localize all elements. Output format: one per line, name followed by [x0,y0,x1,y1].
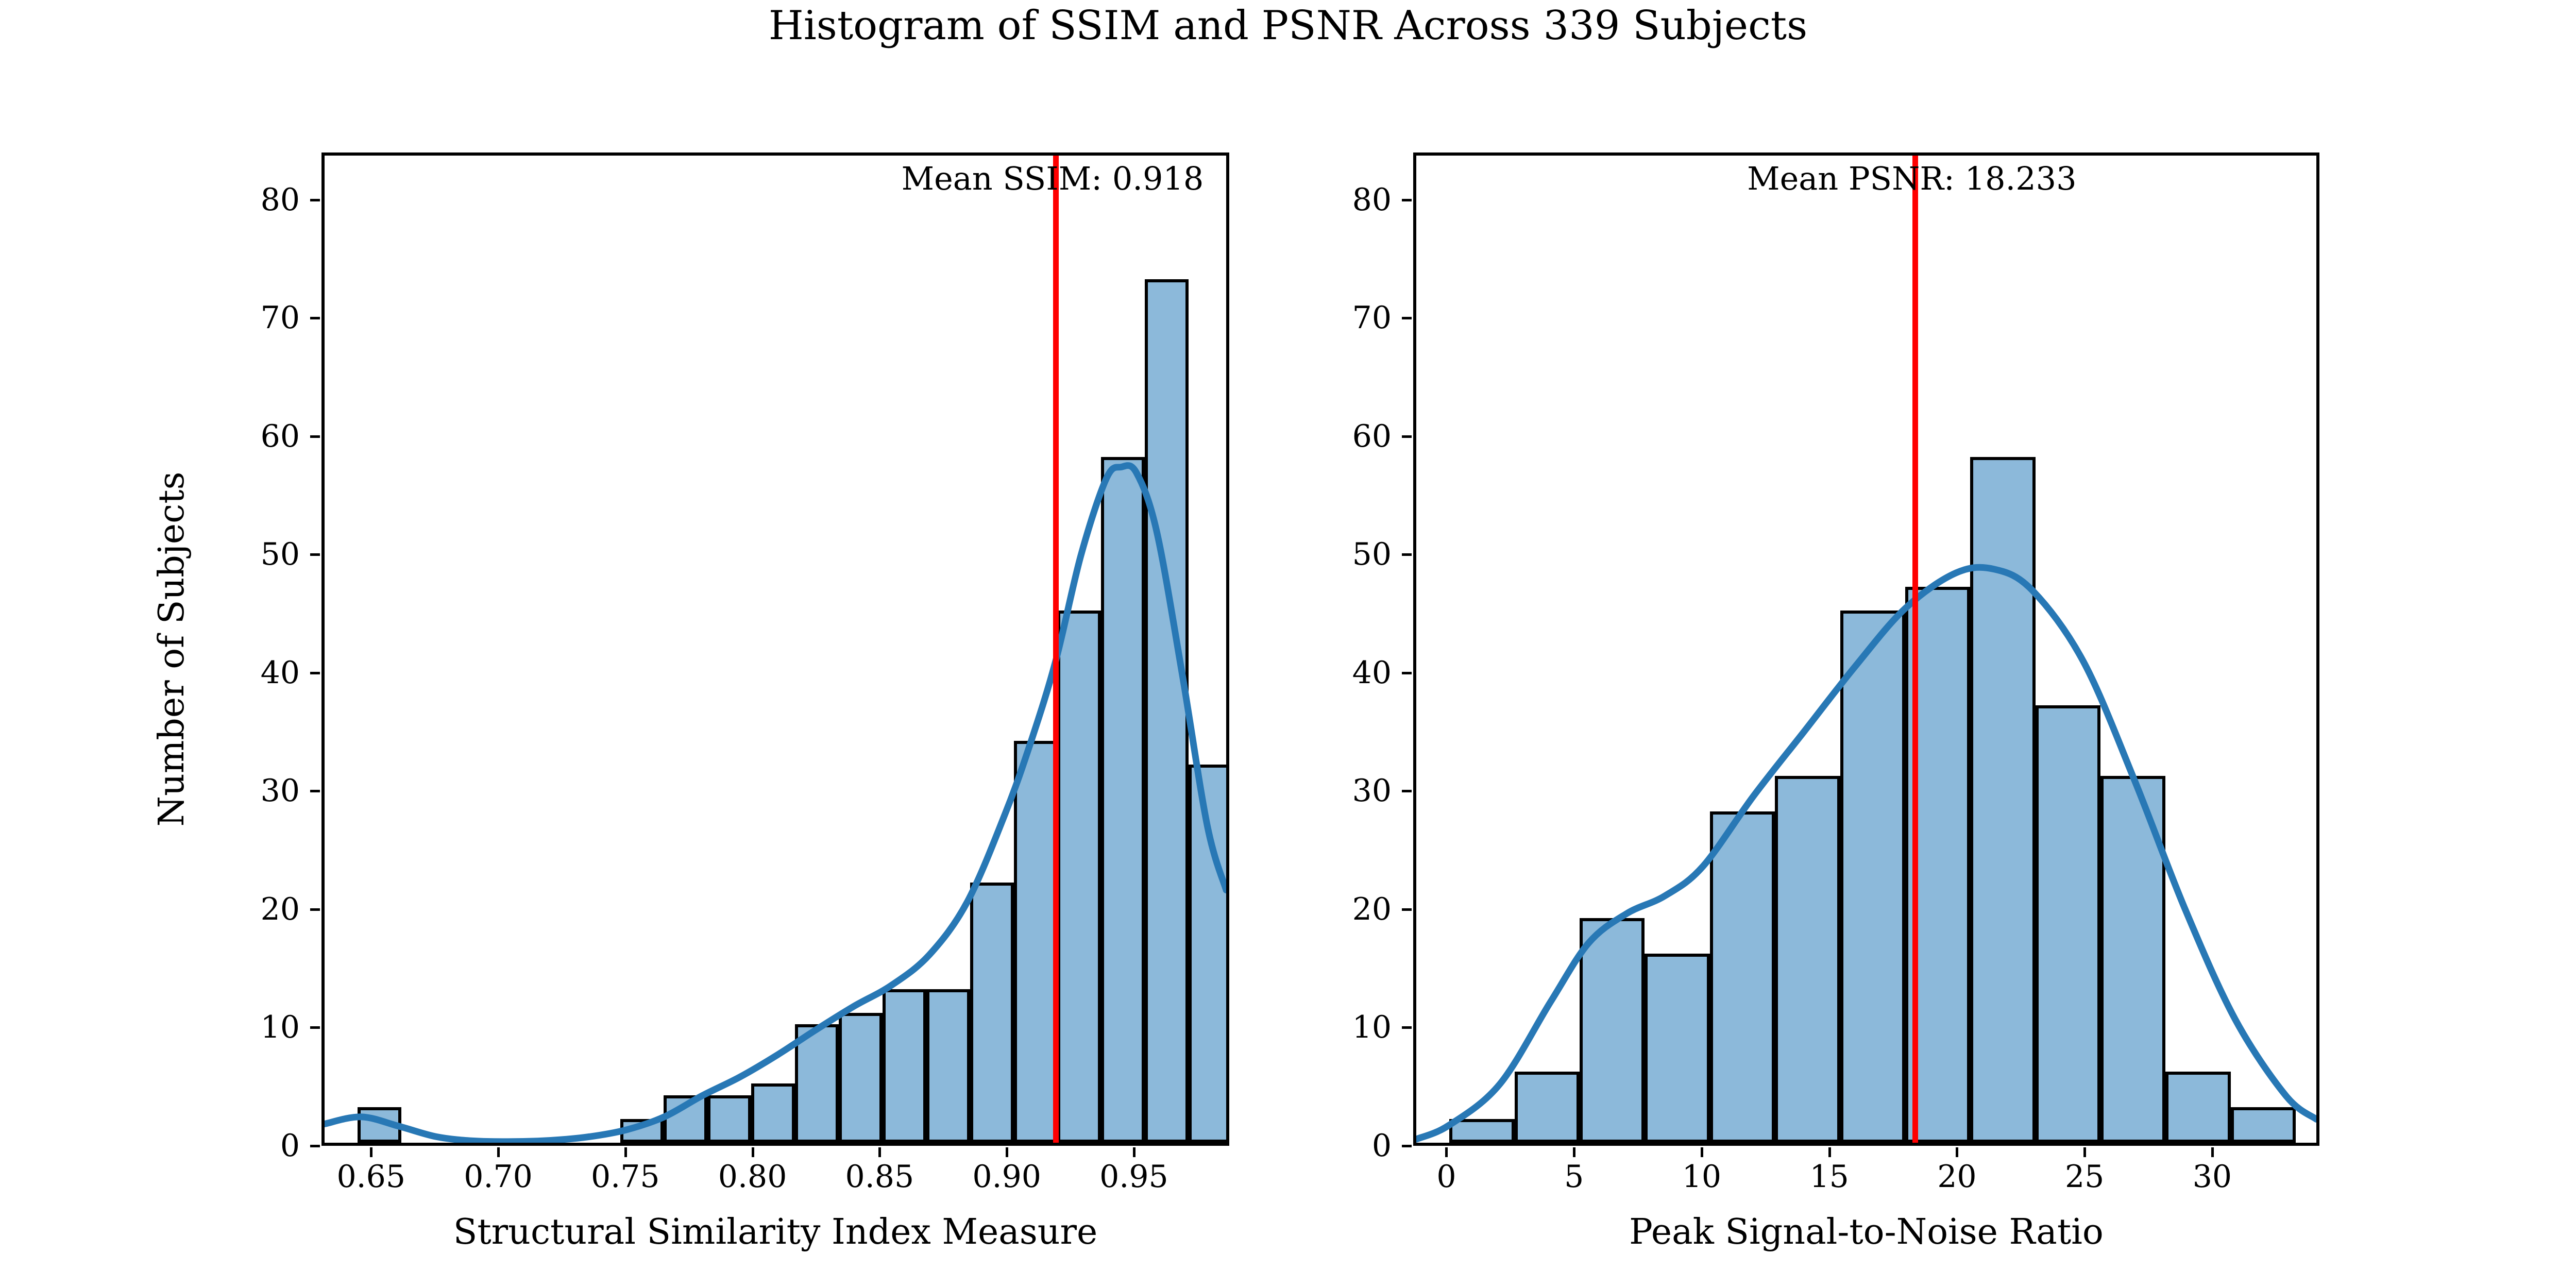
figure-canvas: Histogram of SSIM and PSNR Across 339 Su… [0,0,2576,1288]
y-axis-tick-label: 40 [1268,657,1392,688]
y-axis-tick-label: 30 [176,775,300,806]
x-axis-tick-label: 0.95 [1057,1161,1211,1192]
histogram-bar [1145,279,1189,1143]
x-axis-tick [1006,1147,1008,1157]
y-axis-tick [310,672,320,674]
y-axis-tick [310,1026,320,1029]
y-axis-tick [310,553,320,556]
y-axis-tick [1402,199,1412,201]
histogram-bar [1580,918,1645,1143]
histogram-bar [2036,705,2100,1143]
y-axis-tick-label: 0 [1268,1130,1392,1161]
histogram-bar [1645,954,1709,1143]
y-axis-tick-label: 10 [176,1012,300,1043]
y-axis-tick-label: 80 [1268,184,1392,215]
x-axis-tick [1445,1147,1448,1157]
y-axis-tick [310,1145,320,1147]
y-axis-tick-label: 60 [176,421,300,452]
subplot-psnr-histogram [1413,152,2319,1146]
y-axis-tick [1402,435,1412,438]
mean-vertical-line [1912,156,1918,1143]
y-axis-tick [310,435,320,438]
y-axis-label: Number of Subjects [151,422,192,876]
plot-area-psnr [1416,156,2316,1143]
y-axis-tick-label: 70 [1268,302,1392,333]
x-axis-tick-label: 30 [2135,1161,2290,1192]
histogram-bar [926,989,970,1143]
mean-annotation-label: Mean PSNR: 18.233 [1706,160,2118,197]
x-axis-label: Structural Similarity Index Measure [312,1212,1239,1252]
y-axis-tick-label: 20 [176,894,300,925]
histogram-bar [1057,611,1101,1143]
x-axis-tick [370,1147,372,1157]
y-axis-tick [310,908,320,911]
x-axis-tick [1956,1147,1958,1157]
mean-annotation-label: Mean SSIM: 0.918 [846,160,1259,197]
histogram-bar [358,1107,401,1143]
x-axis-tick [752,1147,754,1157]
subplot-ssim-histogram [321,152,1229,1146]
y-axis-tick-label: 10 [1268,1012,1392,1043]
y-axis-tick-label: 0 [176,1130,300,1161]
histogram-bar [1840,611,1905,1143]
x-axis-tick [878,1147,881,1157]
y-axis-tick-label: 30 [1268,775,1392,806]
y-axis-tick [1402,317,1412,319]
x-axis-tick [2083,1147,2086,1157]
histogram-bar [2165,1072,2230,1143]
y-axis-tick [1402,672,1412,674]
histogram-bar [795,1024,839,1143]
y-axis-tick [310,199,320,201]
histogram-bar [1775,776,1840,1143]
histogram-bar [620,1119,664,1143]
histogram-bar [839,1013,883,1143]
plot-area-ssim [325,156,1226,1143]
figure-suptitle: Histogram of SSIM and PSNR Across 339 Su… [0,4,2576,48]
y-axis-tick [1402,908,1412,911]
histogram-bar [1101,457,1145,1143]
histogram-bar [664,1095,707,1143]
histogram-bar [1449,1119,1514,1143]
x-axis-label: Peak Signal-to-Noise Ratio [1403,1212,2330,1252]
histogram-bar [1970,457,2035,1143]
x-axis-tick [2211,1147,2214,1157]
histogram-bar [1014,741,1058,1143]
x-axis-tick [1133,1147,1136,1157]
histogram-bar [970,883,1014,1143]
histogram-bar [1189,765,1226,1143]
y-axis-tick-label: 80 [176,184,300,215]
y-axis-tick-label: 50 [1268,539,1392,570]
histogram-bar [2231,1107,2296,1143]
histogram-bar [707,1095,751,1143]
y-axis-tick-label: 50 [176,539,300,570]
y-axis-tick [1402,1145,1412,1147]
y-axis-tick [1402,790,1412,792]
mean-vertical-line [1053,156,1059,1143]
x-axis-tick [1573,1147,1575,1157]
y-axis-tick [1402,1026,1412,1029]
y-axis-tick-label: 60 [1268,421,1392,452]
histogram-bar [1710,811,1775,1143]
x-axis-tick [1701,1147,1703,1157]
histogram-bar [883,989,926,1143]
y-axis-tick-label: 40 [176,657,300,688]
y-axis-tick-label: 20 [1268,894,1392,925]
histogram-bar [751,1083,795,1143]
histogram-bar [2100,776,2165,1143]
x-axis-tick [624,1147,627,1157]
y-axis-tick [310,790,320,792]
y-axis-tick-label: 70 [176,302,300,333]
y-axis-tick [310,317,320,319]
x-axis-tick [497,1147,500,1157]
histogram-bar [1515,1072,1580,1143]
x-axis-tick [1828,1147,1831,1157]
y-axis-tick [1402,553,1412,556]
